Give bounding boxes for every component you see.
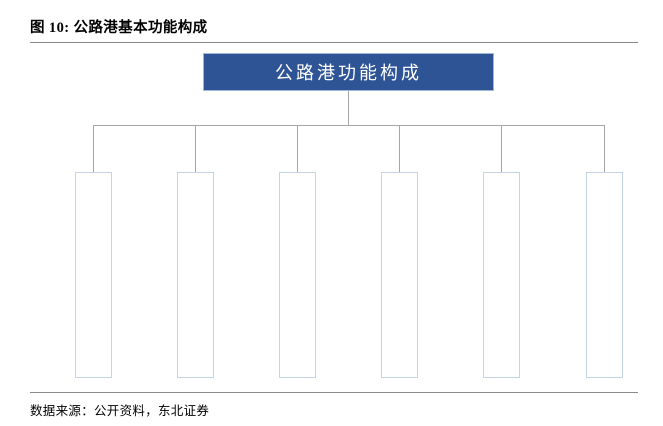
connector-drop-5: [501, 125, 502, 172]
leaf-node-1-label: 物流总部基地: [83, 224, 104, 326]
leaf-node-5-label: 卡车维修中心: [491, 224, 512, 326]
connector-drop-4: [399, 125, 400, 172]
leaf-node-3[interactable]: 智能车源中心: [279, 172, 316, 378]
source-note: 数据来源：公开资料，东北证券: [30, 400, 209, 419]
connector-drop-1: [93, 125, 94, 172]
connector-drop-2: [195, 125, 196, 172]
leaf-node-6-label: 加油站: [594, 250, 615, 301]
leaf-node-4-label: 生活配套区: [389, 233, 410, 318]
leaf-node-3-label: 智能车源中心: [287, 224, 308, 326]
org-chart-diagram: 公路港功能构成 物流总部基地 联运集配中心 智能车源中心 生活配套区 卡车维修中…: [0, 43, 663, 389]
leaf-node-4[interactable]: 生活配套区: [381, 172, 418, 378]
root-node-label: 公路港功能构成: [275, 59, 422, 85]
connector-root-stem: [348, 91, 349, 125]
connector-horizontal-bus: [93, 125, 605, 126]
leaf-node-6[interactable]: 加油站: [586, 172, 623, 378]
leaf-node-2[interactable]: 联运集配中心: [177, 172, 214, 378]
connector-drop-6: [604, 125, 605, 172]
connector-drop-3: [297, 125, 298, 172]
root-node[interactable]: 公路港功能构成: [203, 53, 494, 91]
footer-divider: [30, 392, 638, 393]
page-title: 图 10: 公路港基本功能构成: [30, 16, 208, 37]
leaf-node-1[interactable]: 物流总部基地: [75, 172, 112, 378]
leaf-node-5[interactable]: 卡车维修中心: [483, 172, 520, 378]
leaf-node-2-label: 联运集配中心: [185, 224, 206, 326]
